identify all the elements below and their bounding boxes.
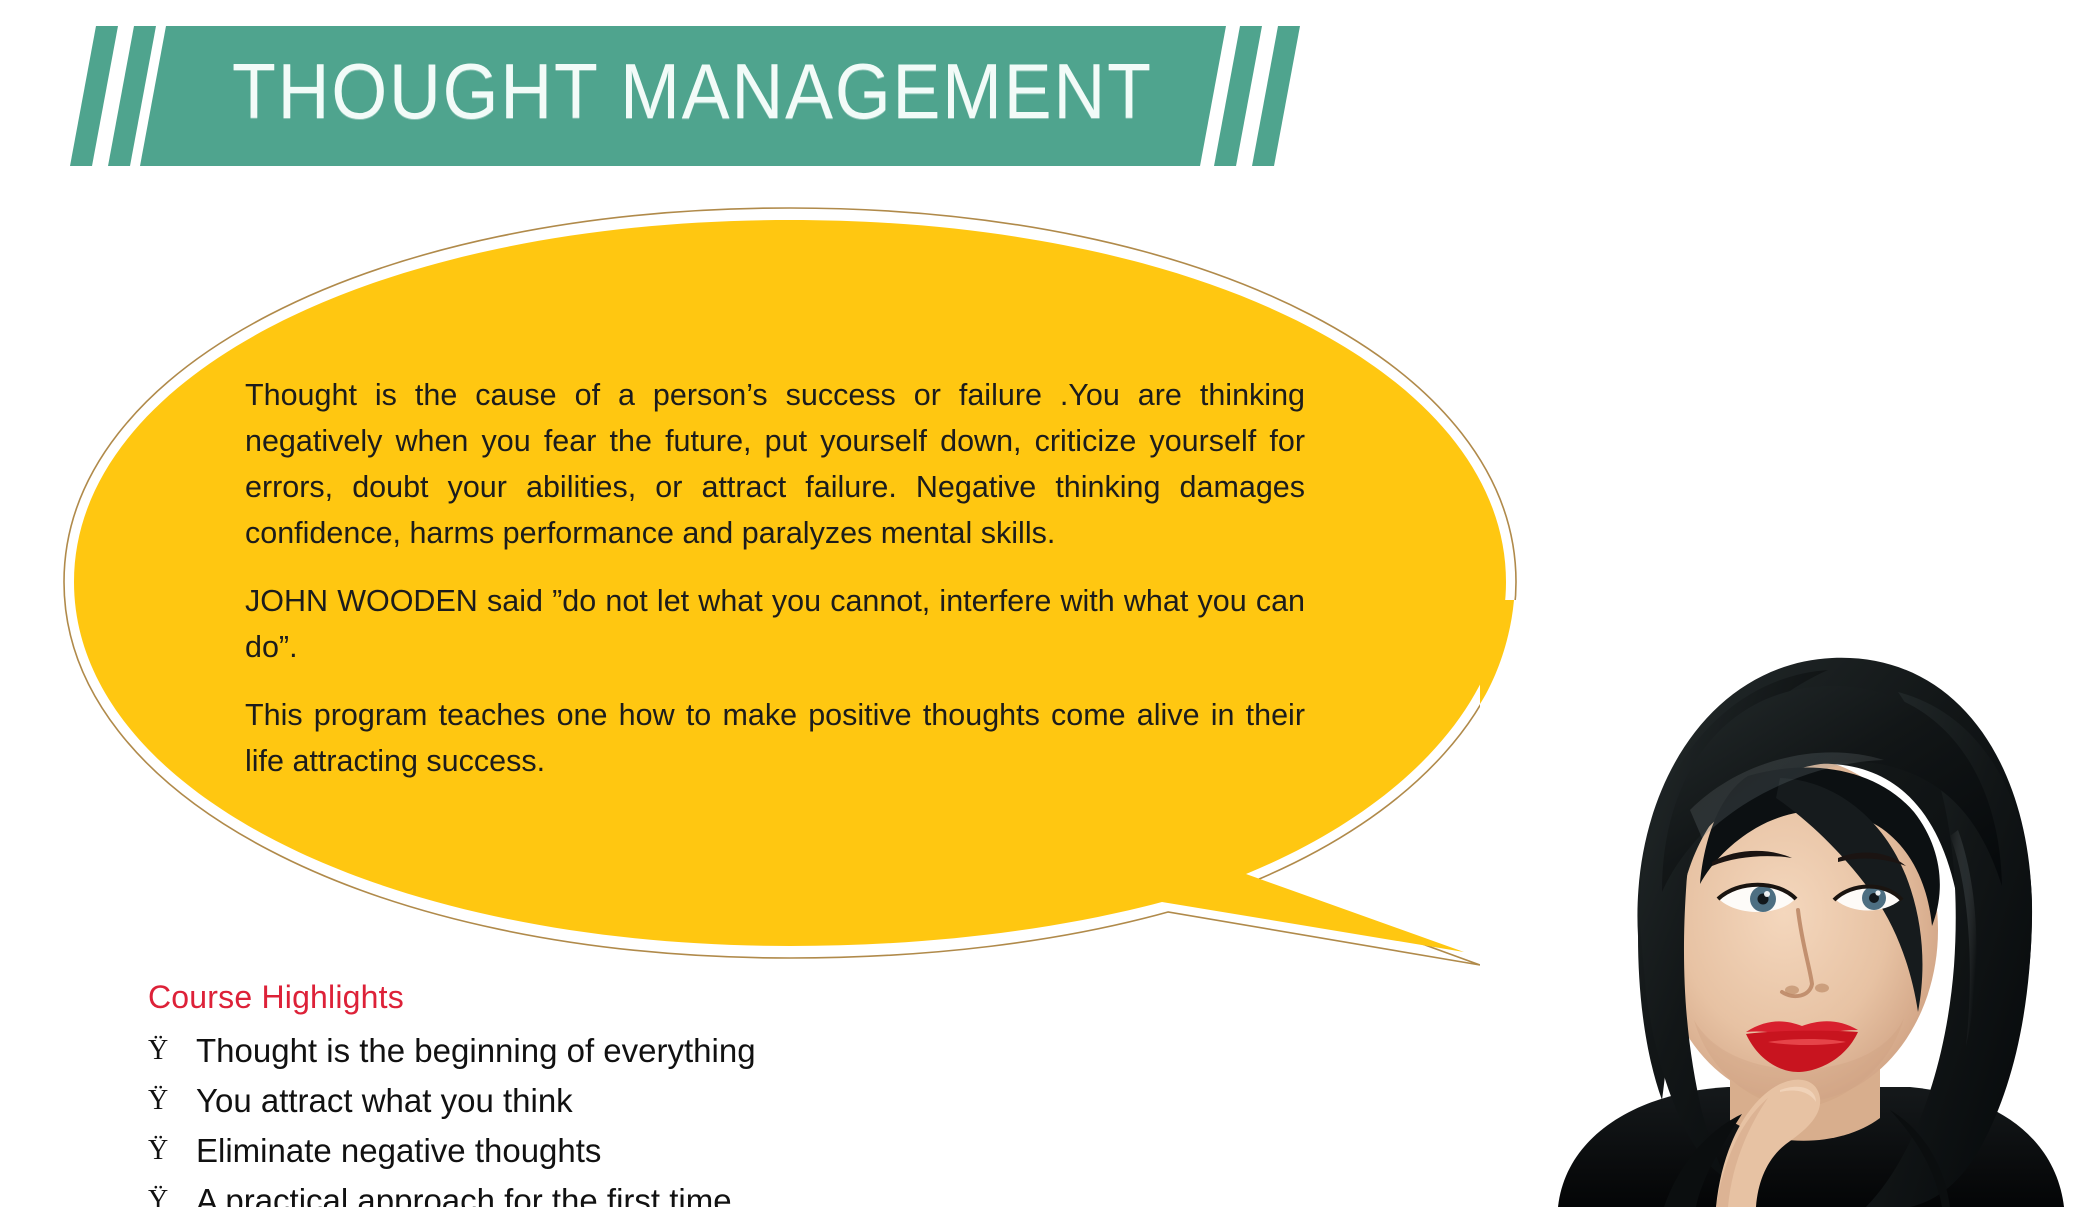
list-item-label: Eliminate negative thoughts (196, 1126, 1148, 1176)
list-item: Ÿ Eliminate negative thoughts (148, 1126, 1148, 1176)
bullet-glyph-icon: Ÿ (148, 1076, 196, 1126)
double-slash-icon-left (70, 26, 156, 166)
list-item: Ÿ A practical approach for the first tim… (148, 1176, 1148, 1207)
course-highlights-heading: Course Highlights (148, 978, 1148, 1016)
list-item-label: You attract what you think (196, 1076, 1148, 1126)
bubble-body-text: Thought is the cause of a person’s succe… (245, 372, 1305, 784)
bubble-paragraph-1: Thought is the cause of a person’s succe… (245, 372, 1305, 556)
slide-canvas: THOUGHT MANAGEMENT Thought is the cause … (0, 0, 2084, 1207)
list-item-label: Thought is the beginning of everything (196, 1026, 1148, 1076)
course-highlights-section: Course Highlights Ÿ Thought is the begin… (148, 978, 1148, 1207)
list-item: Ÿ You attract what you think (148, 1076, 1148, 1126)
woman-thinking-photo (1480, 600, 2084, 1207)
bullet-glyph-icon: Ÿ (148, 1126, 196, 1176)
bullet-glyph-icon: Ÿ (148, 1176, 196, 1207)
page-title: THOUGHT MANAGEMENT (232, 36, 1060, 146)
bubble-paragraph-2: JOHN WOODEN said ”do not let what you ca… (245, 578, 1305, 670)
bullet-glyph-icon: Ÿ (148, 1026, 196, 1076)
list-item: Ÿ Thought is the beginning of everything (148, 1026, 1148, 1076)
double-slash-icon-right (1214, 26, 1300, 166)
list-item-label: A practical approach for the first time (196, 1176, 1148, 1207)
bubble-paragraph-3: This program teaches one how to make pos… (245, 692, 1305, 784)
